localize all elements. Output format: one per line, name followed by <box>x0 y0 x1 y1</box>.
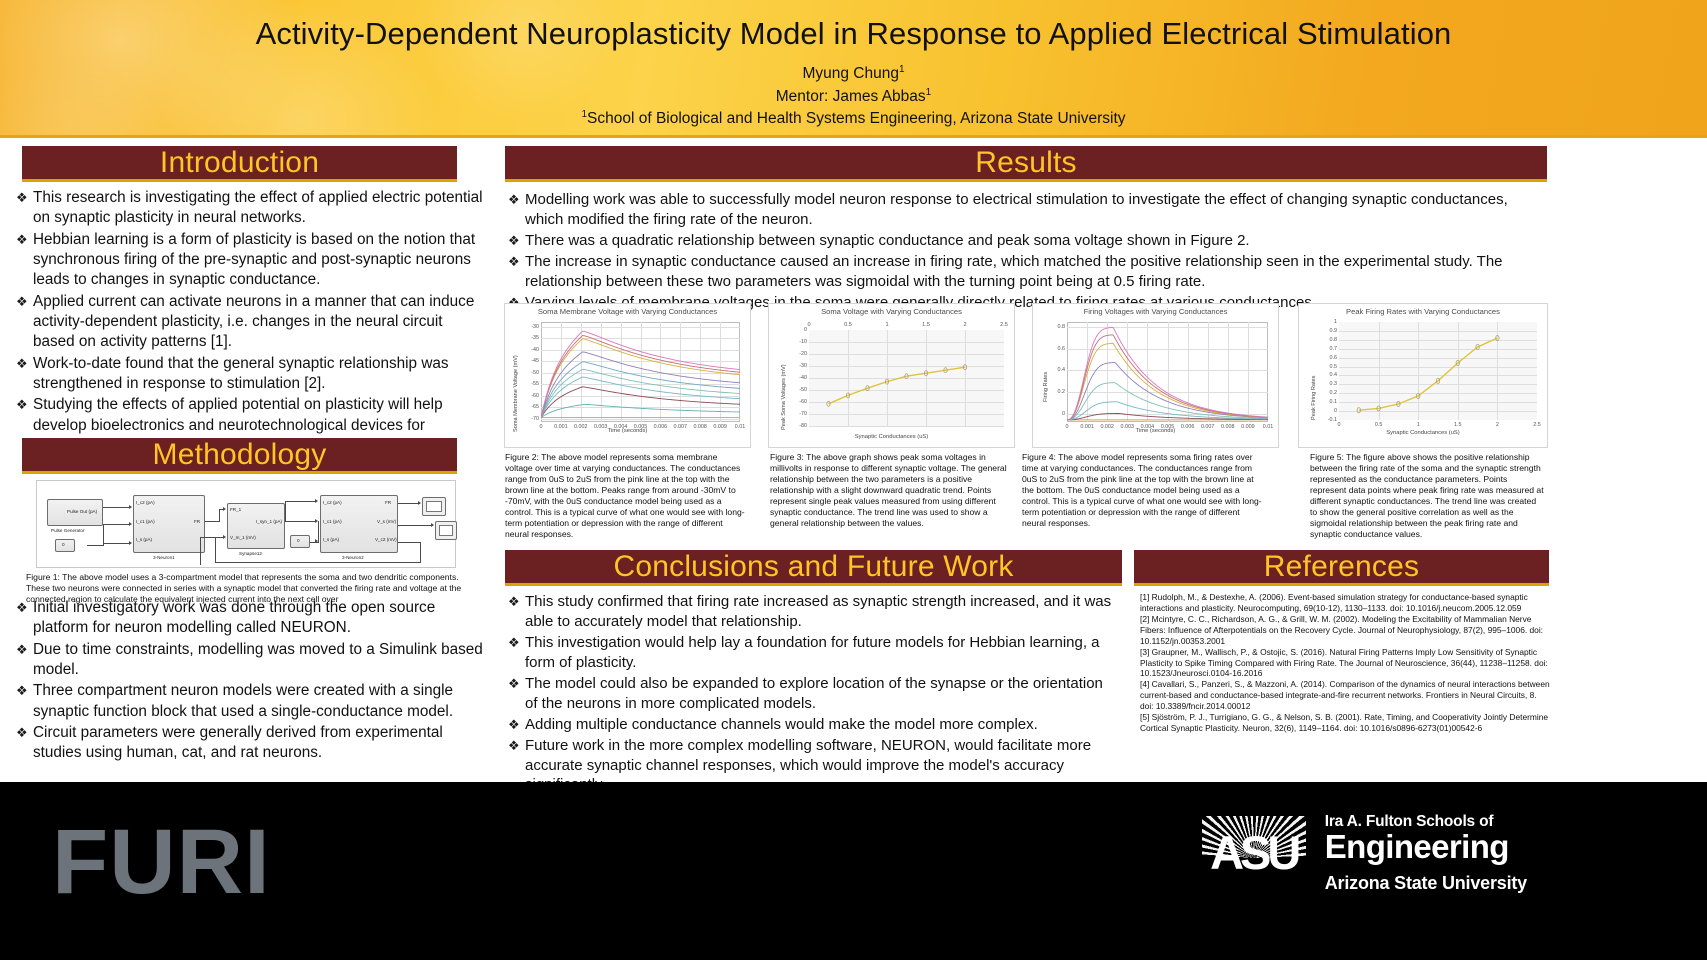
asu-sunburst-icon: ASU <box>1195 814 1313 874</box>
results-bullets: ❖Modelling work was able to successfully… <box>508 190 1548 314</box>
sl-wire <box>398 525 433 526</box>
sl-wire <box>398 542 420 543</box>
section-banner-methodology: Methodology <box>22 438 457 474</box>
chart1-plot-area: -30 -35 -40 -45 -50 -55 -60 -65 -70 0 0.… <box>541 322 740 422</box>
section-banner-conclusions: Conclusions and Future Work <box>505 550 1122 586</box>
author-sup: 1 <box>899 64 905 75</box>
sl-wire <box>103 507 129 508</box>
chart3-curves <box>1067 322 1268 422</box>
sl-arrow <box>129 505 132 509</box>
chart4-xtick: 2.5 <box>1533 422 1541 428</box>
chart4-ytick: 0.7 <box>1330 346 1338 352</box>
chart1-ytick: -65 <box>531 404 539 410</box>
chart4-xtick: 2 <box>1496 422 1499 428</box>
diamond-bullet-icon: ❖ <box>508 633 525 651</box>
introduction-bullets: ❖This research is investigating the effe… <box>16 188 486 457</box>
sl-block-constant-0b <box>290 535 310 548</box>
asu-line3: Arizona State University <box>1325 873 1527 894</box>
chart2-title: Soma Voltage with Varying Conductances <box>769 307 1014 316</box>
page-title: Activity-Dependent Neuroplasticity Model… <box>0 16 1707 52</box>
sl-port-syn-fr1: FR_1 <box>230 507 241 512</box>
reference-item: [4] Cavallari, S., Panzeri, S., & Mazzon… <box>1140 679 1552 712</box>
diamond-bullet-icon: ❖ <box>16 230 33 248</box>
chart4-xlabel: Synaptic Conductances (uS) <box>1299 430 1547 436</box>
sl-arrow <box>315 499 318 503</box>
chart4-plot-area: 1 0.9 0.8 0.7 0.6 0.5 0.4 0.3 0.2 0.1 0 … <box>1339 322 1537 420</box>
sl-wire <box>420 542 421 562</box>
list-item: ❖The increase in synaptic conductance ca… <box>508 252 1548 292</box>
chart2-ytick: -70 <box>799 411 807 417</box>
list-item: ❖Due to time constraints, modelling was … <box>16 640 486 681</box>
affiliation-text: School of Biological and Health Systems … <box>587 110 1125 127</box>
sl-block-constant-0a <box>55 539 75 552</box>
sl-scope-1 <box>422 497 446 516</box>
sl-wire <box>103 543 129 544</box>
sl-arrow <box>315 519 318 523</box>
chart1-ylabel: Soma Membrane Voltage (mV) <box>513 355 519 432</box>
figure5-caption: Figure 5: The figure above shows the pos… <box>1310 452 1545 540</box>
chart3-xlabel: Time (seconds) <box>1033 428 1278 434</box>
chart4-title: Peak Firing Rates with Varying Conductan… <box>1299 307 1547 316</box>
diamond-bullet-icon: ❖ <box>16 640 33 658</box>
sl-arrow <box>431 523 434 527</box>
section-banner-introduction: Introduction <box>22 146 457 182</box>
diamond-bullet-icon: ❖ <box>16 681 33 699</box>
sl-label-constant-0a: 0 <box>62 542 65 547</box>
chart1-ytick: -30 <box>531 324 539 330</box>
sl-label-pulse-generator: Pulse Generator <box>51 528 84 533</box>
chart4-ytick: 0.9 <box>1330 328 1338 334</box>
chart2-plot-area: 0 -10 -20 -30 -40 -50 -60 -70 -80 0 0.5 … <box>809 330 1004 426</box>
mentor-name: Mentor: James Abbas <box>776 88 926 105</box>
poster-header: Activity-Dependent Neuroplasticity Model… <box>0 0 1707 138</box>
chart4-points <box>1339 322 1537 420</box>
mentor-sup: 1 <box>926 87 932 98</box>
sl-port-n1-ic1: I_c1 (pA) <box>136 519 155 524</box>
section-banner-results: Results <box>505 146 1547 182</box>
poster-footer: FURI ASU Ira A. Fulton Schools of Engine… <box>0 782 1707 960</box>
chart4-ytick: 0 <box>1334 408 1337 414</box>
chart2-ylabel: Peak Soma Voltages (mV) <box>781 364 787 430</box>
chart2-xtick: 0.5 <box>844 322 852 328</box>
sl-wire <box>103 524 129 525</box>
chart3-ytick: 0 <box>1062 411 1065 417</box>
figure2-caption: Figure 2: The above model represents som… <box>505 452 745 540</box>
diamond-bullet-icon: ❖ <box>508 252 525 270</box>
diamond-bullet-icon: ❖ <box>508 190 525 208</box>
chart3-ytick: 0.4 <box>1058 367 1066 373</box>
chart4-ytick: 0.4 <box>1330 372 1338 378</box>
diamond-bullet-icon: ❖ <box>508 231 525 249</box>
chart2-xtick: 1 <box>885 322 888 328</box>
chart2-ytick: -30 <box>799 363 807 369</box>
chart2-xtick: 2.5 <box>1000 322 1008 328</box>
reference-item: [1] Rudolph, M., & Destexhe, A. (2006). … <box>1140 592 1552 614</box>
sl-arrow <box>129 541 132 545</box>
sl-label-3-neuron1: 3-Neuron1 <box>153 555 175 560</box>
figure1-simulink-diagram: Pulse Generator Pulse Out (pA) 0 3-Neuro… <box>36 480 456 568</box>
sl-port-n1-fr: FR <box>194 519 200 524</box>
sl-port-n1-ic2: I_c2 (pA) <box>136 500 155 505</box>
sl-wire <box>285 501 286 522</box>
chart1-title: Soma Membrane Voltage with Varying Condu… <box>505 307 750 316</box>
section-banner-references: References <box>1134 550 1549 586</box>
chart2-ytick: -50 <box>799 387 807 393</box>
introduction-title: Introduction <box>160 148 319 178</box>
sl-label-constant-0b: 0 <box>297 538 300 543</box>
references-list: [1] Rudolph, M., & Destexhe, A. (2006). … <box>1140 592 1552 734</box>
sl-port-n2-is: I_s (pA) <box>323 537 339 542</box>
chart4-xtick: 1 <box>1417 422 1420 428</box>
list-item: ❖This research is investigating the effe… <box>16 188 486 229</box>
list-item: ❖Applied current can activate neurons in… <box>16 292 486 353</box>
list-item: ❖Adding multiple conductance channels wo… <box>508 715 1118 735</box>
chart4-ytick: 0.2 <box>1330 390 1338 396</box>
diamond-bullet-icon: ❖ <box>16 395 33 413</box>
chart3-ytick: 0.8 <box>1058 324 1066 330</box>
sl-wire <box>215 562 421 563</box>
sl-arrow <box>315 539 318 543</box>
list-item: ❖There was a quadratic relationship betw… <box>508 231 1548 251</box>
chart4-ytick: 0.1 <box>1330 399 1338 405</box>
sl-port-n2-ic2: I_c2 (pA) <box>323 500 342 505</box>
sl-port-n2-fr: FR <box>385 500 391 505</box>
chart1-ytick: -60 <box>531 393 539 399</box>
diamond-bullet-icon: ❖ <box>16 598 33 616</box>
chart-peak-soma-voltage: Soma Voltage with Varying Conductances P… <box>768 303 1015 448</box>
chart3-plot-area: 0.8 0.6 0.4 0.2 0 0 0.001 0.002 0.003 0.… <box>1067 322 1268 422</box>
list-item: ❖Initial investigatory work was done thr… <box>16 598 486 639</box>
asu-letters: ASU <box>1195 829 1313 874</box>
sl-port-n2-vs: V_s (mV) <box>377 519 396 524</box>
chart3-ytick: 0.6 <box>1058 346 1066 352</box>
sl-scope-2 <box>435 521 457 540</box>
chart4-xtick: 1.5 <box>1454 422 1462 428</box>
sl-wire <box>200 537 201 565</box>
sl-arrow <box>223 535 226 539</box>
chart2-xtick: 2 <box>963 322 966 328</box>
chart2-xlabel: Synaptic Conductances (uS) <box>769 434 1014 440</box>
chart1-ytick: -35 <box>531 335 539 341</box>
figure4-caption: Figure 4: The above model represents som… <box>1022 452 1262 529</box>
conclusions-bullets: ❖This study confirmed that firing rate i… <box>508 592 1118 796</box>
results-title: Results <box>975 148 1076 178</box>
diamond-bullet-icon: ❖ <box>16 292 33 310</box>
list-item: ❖Hebbian learning is a form of plasticit… <box>16 230 486 291</box>
chart1-ytick: -45 <box>531 358 539 364</box>
reference-item: [2] Mcintyre, C. C., Richardson, A. G., … <box>1140 614 1552 647</box>
furi-logo: FURI <box>52 816 271 908</box>
chart-peak-firing-rates: Peak Firing Rates with Varying Conductan… <box>1298 303 1548 448</box>
affiliation-line: 1School of Biological and Health Systems… <box>0 108 1707 131</box>
chart2-points <box>809 330 1004 426</box>
list-item: ❖Modelling work was able to successfully… <box>508 190 1548 230</box>
list-item: ❖This investigation would help lay a fou… <box>508 633 1118 673</box>
sl-wire <box>318 521 319 543</box>
asu-wordmark: Ira A. Fulton Schools of Engineering Ari… <box>1325 814 1527 894</box>
references-title: References <box>1264 552 1419 582</box>
sl-port-syn-vm1: V_m_1 (mV) <box>230 535 256 540</box>
chart2-xtick: 0 <box>807 322 810 328</box>
list-item: ❖This study confirmed that firing rate i… <box>508 592 1118 632</box>
chart1-curves <box>541 322 740 422</box>
chart2-xtick: 1.5 <box>922 322 930 328</box>
chart4-xtick: 0.5 <box>1375 422 1383 428</box>
sl-arrow <box>223 507 226 511</box>
sl-port-pulse-out: Pulse Out (pA) <box>67 509 97 514</box>
diamond-bullet-icon: ❖ <box>16 188 33 206</box>
list-item: ❖The model could also be expanded to exp… <box>508 674 1118 714</box>
asu-logo: ASU Ira A. Fulton Schools of Engineering… <box>1195 814 1527 894</box>
sl-port-syn-isyn: I_syn_1 (pA) <box>256 519 282 524</box>
diamond-bullet-icon: ❖ <box>16 723 33 741</box>
chart4-ytick: 0.3 <box>1330 381 1338 387</box>
reference-item: [5] Sjöström, P. J., Turrigiano, G. G., … <box>1140 712 1552 734</box>
chart4-ylabel: Peak Firing Rates <box>1311 376 1317 420</box>
sl-arrow <box>418 501 421 505</box>
chart4-ytick: 0.8 <box>1330 337 1338 343</box>
sl-wire <box>219 509 220 522</box>
chart-firing-voltages: Firing Voltages with Varying Conductance… <box>1032 303 1279 448</box>
chart3-ytick: 0.2 <box>1058 389 1066 395</box>
sl-label-3-neuron2: 3-Neuron2 <box>342 555 364 560</box>
sl-wire <box>87 545 103 546</box>
chart2-ytick: -80 <box>799 423 807 429</box>
chart-soma-membrane-voltage: Soma Membrane Voltage with Varying Condu… <box>504 303 751 448</box>
diamond-bullet-icon: ❖ <box>508 715 525 733</box>
reference-item: [3] Graupner, M., Wallisch, P., & Ostoji… <box>1140 647 1552 680</box>
chart3-title: Firing Voltages with Varying Conductance… <box>1033 307 1278 316</box>
figure3-caption: Figure 3: The above graph shows peak som… <box>770 452 1010 529</box>
chart4-ytick: -0.1 <box>1328 417 1337 423</box>
author-line: Myung Chung1 <box>0 63 1707 86</box>
chart4-ytick: 1 <box>1334 319 1337 325</box>
author-name: Myung Chung <box>802 65 899 82</box>
asu-line2: Engineering <box>1325 830 1527 864</box>
sl-port-n2-vc2: V_c2 (mV) <box>375 537 397 542</box>
diamond-bullet-icon: ❖ <box>508 736 525 754</box>
chart1-ytick: -50 <box>531 370 539 376</box>
methodology-title: Methodology <box>153 440 327 470</box>
sl-wire <box>398 503 420 504</box>
chart1-ytick: -55 <box>531 381 539 387</box>
sl-wire <box>205 521 219 522</box>
chart1-ytick: -40 <box>531 347 539 353</box>
sl-wire <box>285 521 315 522</box>
chart3-ylabel: Firing Rates <box>1043 372 1049 402</box>
mentor-line: Mentor: James Abbas1 <box>0 86 1707 109</box>
chart4-ytick: 0.6 <box>1330 355 1338 361</box>
diamond-bullet-icon: ❖ <box>16 354 33 372</box>
sl-port-n2-ic1: I_c1 (pA) <box>323 519 342 524</box>
sl-wire <box>200 537 224 538</box>
sl-wire <box>215 537 216 563</box>
methodology-bullets: ❖Initial investigatory work was done thr… <box>16 598 486 765</box>
diamond-bullet-icon: ❖ <box>508 592 525 610</box>
sl-arrow <box>129 522 132 526</box>
list-item: ❖Circuit parameters were generally deriv… <box>16 723 486 764</box>
conclusions-title: Conclusions and Future Work <box>613 552 1013 582</box>
chart2-ytick: -10 <box>799 339 807 345</box>
diamond-bullet-icon: ❖ <box>508 674 525 692</box>
chart1-xlabel: Time (seconds) <box>505 428 750 434</box>
chart2-ytick: -40 <box>799 375 807 381</box>
chart4-ytick: 0.5 <box>1330 364 1338 370</box>
sl-label-synapse12: Synapse12 <box>239 551 262 556</box>
list-item: ❖Work-to-date found that the general syn… <box>16 354 486 395</box>
sl-wire <box>285 501 315 502</box>
chart2-ytick: -20 <box>799 351 807 357</box>
list-item: ❖Three compartment neuron models were cr… <box>16 681 486 722</box>
chart4-xtick: 0 <box>1338 422 1341 428</box>
sl-port-n1-is: I_s (pA) <box>136 537 152 542</box>
chart1-ytick: -70 <box>531 416 539 422</box>
chart2-ytick: -60 <box>799 399 807 405</box>
